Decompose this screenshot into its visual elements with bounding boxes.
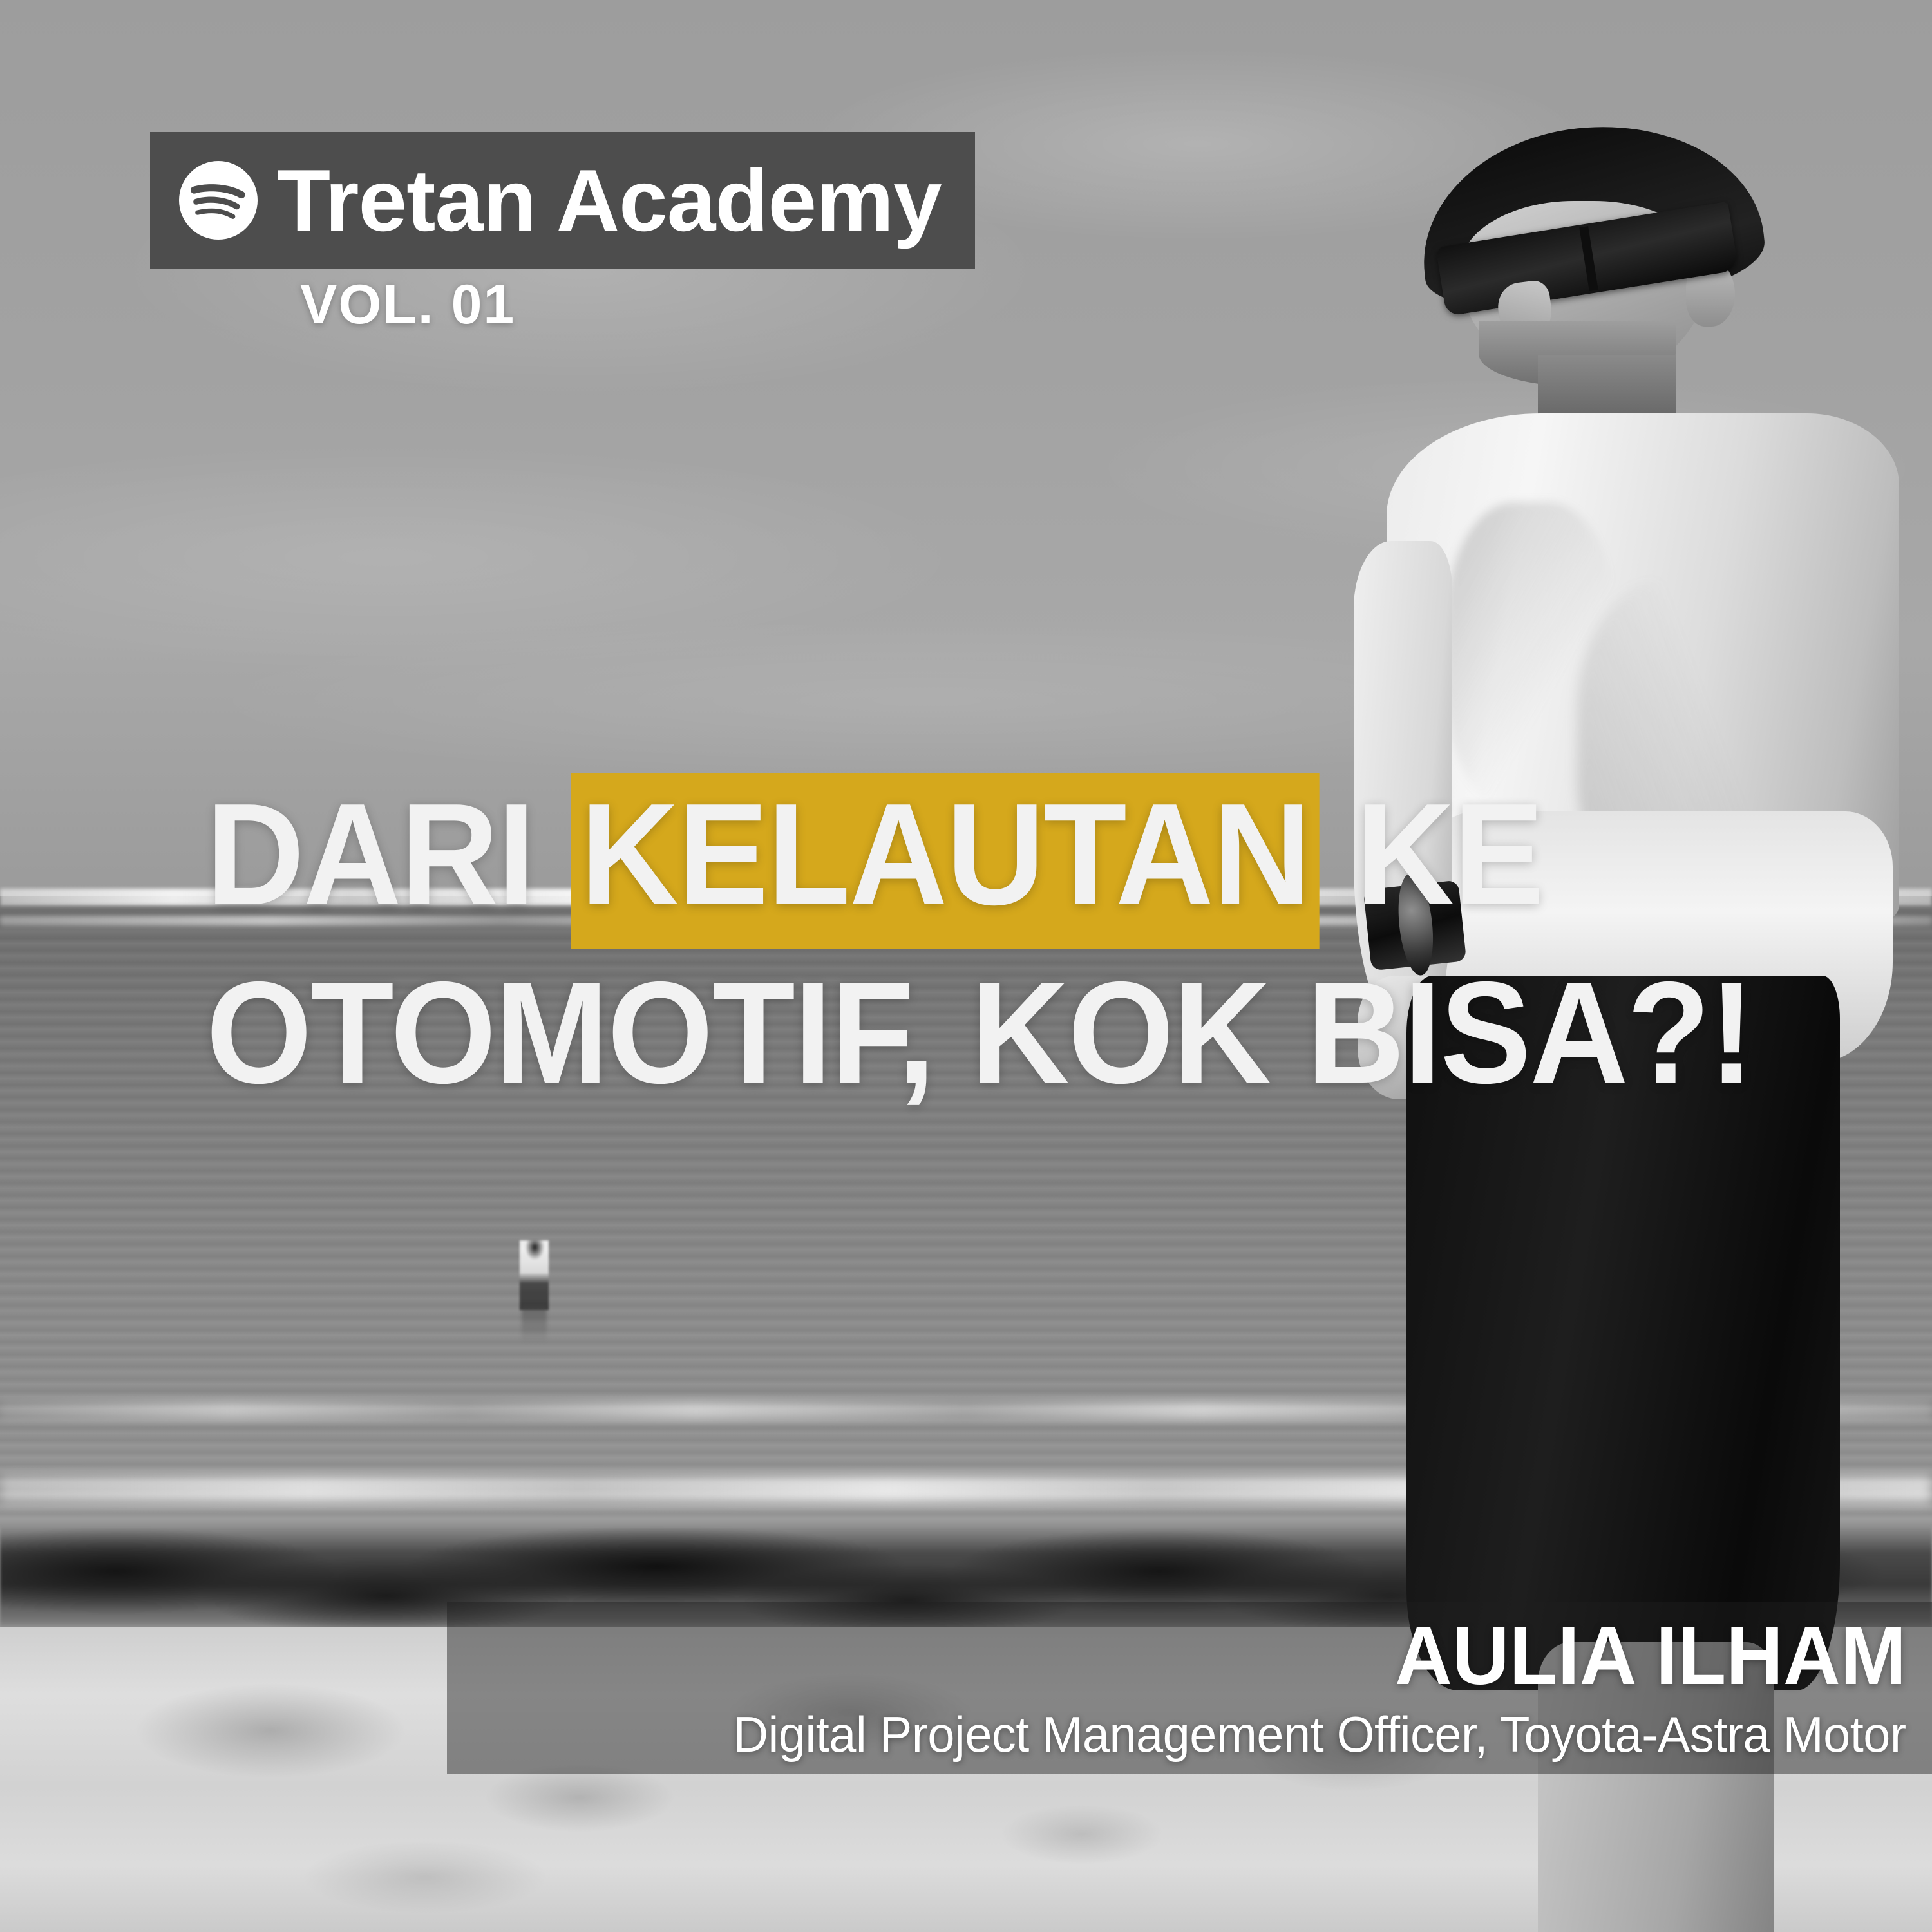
headline-suffix: KE [1320,773,1543,935]
podcast-cover-art: Tretan Academy VOL. 01 DARI KELAUTAN KE … [0,0,1932,1932]
episode-headline: DARI KELAUTAN KE OTOMOTIF, KOK BISA?! [206,765,1765,1122]
swimmer-figure [520,1240,549,1310]
brand-title: Tretan Academy [277,156,942,244]
headline-prefix: DARI [206,773,571,935]
speaker-role: Digital Project Management Officer, Toyo… [734,1705,1906,1764]
headline-line-2: OTOMOTIF, KOK BISA?! [206,943,1671,1122]
volume-label: VOL. 01 [300,273,515,337]
headline-highlight: KELAUTAN [571,773,1320,949]
speaker-name: AULIA ILHAM [1395,1609,1906,1703]
swimmer-reflection [522,1306,547,1343]
brand-badge: Tretan Academy [150,132,975,269]
spotify-icon [179,161,258,240]
headline-line-1: DARI KELAUTAN KE [206,765,1671,943]
